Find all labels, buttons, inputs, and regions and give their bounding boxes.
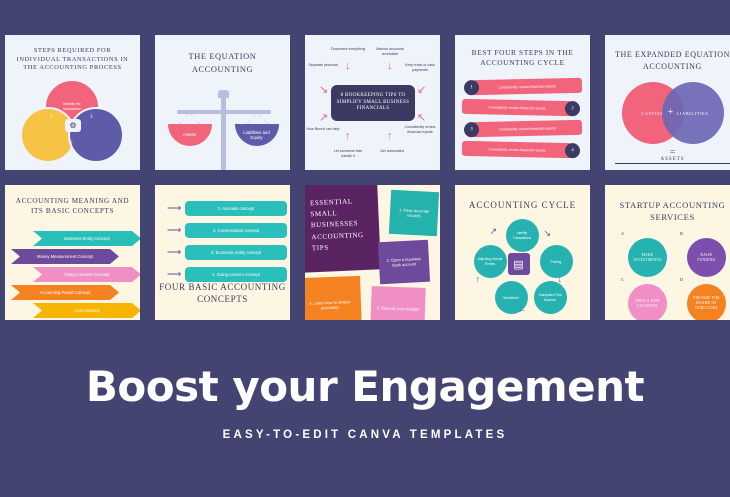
- template-card-5[interactable]: THE EXPANDED EQUATION ACCOUNTING CAPITAL…: [600, 30, 730, 175]
- banner-label-3: Going Concern Concept: [65, 272, 110, 277]
- concept-pill-list: ⟶ 1. Accruals concept ⟶ 2. Conservatism …: [167, 201, 287, 289]
- scale-pan-right-label: Liabilities and Equity: [238, 130, 276, 141]
- gears-icon: ⚙: [65, 119, 81, 132]
- step-bar-2: Consistently review financial reports 2: [462, 99, 572, 116]
- arrow-right-icon-3: ⟶: [167, 248, 185, 258]
- expanded-equation-graphic: CAPITAL LIABILITIES +: [608, 82, 730, 152]
- banner-label-5: Cost Concept: [74, 308, 99, 313]
- step-bar-3: 3 Consistently review financial reports: [472, 120, 582, 137]
- card-7-title: FOUR BASIC ACCOUNTING CONCEPTS: [155, 281, 290, 306]
- cycle-node-label-5: Adjusting Journal Entries: [477, 257, 504, 265]
- banner-cost-concept: Cost Concept: [33, 303, 140, 318]
- scale-post: [221, 94, 226, 170]
- equation-capital-label: CAPITAL: [641, 111, 663, 116]
- banner-money-measurement: Money Measurement Concept: [11, 249, 119, 264]
- sticky-note-1-text: 1. Keep accurate records: [394, 207, 435, 220]
- card-9-body: ACCOUNTING CYCLE Identify Transactions P…: [455, 185, 590, 320]
- cycle-node-unadjusted-trial-balance: Unadjusted Trial Balance: [534, 281, 567, 314]
- card-2-title: THE EQUATION ACCOUNTING: [155, 51, 290, 76]
- service-label-d: PREPARE FOR BOARD OF DIRECTORS: [691, 296, 722, 311]
- service-cell-b: B RAISE FUNDING: [678, 231, 730, 277]
- arrow-right-icon-1: ⟶: [167, 204, 185, 214]
- service-letter-c: C: [621, 277, 624, 282]
- tip-arrow-left-lower: ↖: [417, 113, 426, 124]
- template-card-1[interactable]: STEPS REQUIRED FOR INDIVIDUAL TRANSACTIO…: [0, 30, 145, 175]
- tip-label-keep-track-cash: Keep track of cash payments: [403, 63, 437, 73]
- arrow-right-icon-2: ⟶: [167, 226, 185, 236]
- service-circle-a: MAKE INVESTMENTS: [628, 238, 667, 277]
- service-cell-d: D PREPARE FOR BOARD OF DIRECTORS: [678, 277, 730, 320]
- template-card-7[interactable]: ⟶ 1. Accruals concept ⟶ 2. Conservatism …: [150, 180, 295, 325]
- sticky-note-4: 4. Learn how to invoice accurately: [305, 276, 362, 320]
- sticky-note-2-text: 2. Open a business bank account: [383, 256, 426, 269]
- card-4-body: BEST FOUR STEPS IN THE ACCOUNTING CYCLE …: [455, 35, 590, 170]
- tip-arrow-right-upper: ↘: [319, 85, 328, 96]
- equation-rule: [615, 163, 730, 164]
- cycle-arrow-5: ↑: [476, 275, 481, 284]
- venn-circle-right: [68, 107, 124, 163]
- cycle-node-label-3: Unadjusted Trial Balance: [537, 293, 564, 301]
- tip-label-how-bench-can-help: How Bench can help: [306, 127, 340, 132]
- tip-arrow-right-lower: ↗: [319, 113, 328, 124]
- pill-row-4: ⟶ 4. Going concern concept: [167, 267, 287, 282]
- step-number-1: 1: [464, 80, 479, 95]
- tip-label-separate-personal: Separate personal: [306, 63, 340, 68]
- tip-label-get-automated: Get automated: [375, 149, 409, 154]
- cycle-node-posting: Posting: [540, 245, 573, 278]
- scale-pan-right: Liabilities and Equity: [235, 124, 279, 146]
- card-2-body: THE EQUATION ACCOUNTING Assets Liabiliti…: [155, 35, 290, 170]
- pill-label-2: 2. Conservatism concept: [213, 228, 259, 233]
- venn-number-1: 1: [50, 115, 53, 120]
- venn-number-2: 2: [70, 141, 73, 146]
- scale-knob: [218, 90, 229, 98]
- banner-going-concern: Going Concern Concept: [33, 267, 140, 282]
- sticky-note-3-text: 3. Save all your receipts: [377, 306, 420, 313]
- service-cell-a: A MAKE INVESTMENTS: [619, 231, 678, 277]
- card-6-title: ACCOUNTING MEANING AND ITS BASIC CONCEPT…: [5, 197, 140, 216]
- pill-accruals: 1. Accruals concept: [185, 201, 287, 216]
- cycle-arrow-3: ↓: [558, 275, 563, 284]
- service-circle-b: RAISE FUNDING: [687, 238, 726, 277]
- step-number-3: 3: [464, 122, 479, 137]
- tip-arrow-left-upper: ↙: [417, 85, 426, 96]
- tip-label-monitor-accounts-receivable: Monitor accounts receivable: [373, 47, 407, 57]
- pill-going-concern: 4. Going concern concept: [185, 267, 287, 282]
- sticky-note-title: ESSENTIAL SMALL BUSINESSES ACCOUNTING TI…: [305, 185, 381, 273]
- card-5-body: THE EXPANDED EQUATION ACCOUNTING CAPITAL…: [605, 35, 730, 170]
- step-bar-1: 1 Consistently review financial reports: [472, 78, 582, 95]
- card-1-title: STEPS REQUIRED FOR INDIVIDUAL TRANSACTIO…: [5, 47, 140, 73]
- arrow-right-icon-4: ⟶: [167, 270, 185, 280]
- card-3-body: 8 BOOKKEEPING TIPS TO SIMPLIFY SMALL BUS…: [305, 35, 440, 170]
- financial-report-icon: ▤: [508, 253, 530, 275]
- template-row-top: STEPS REQUIRED FOR INDIVIDUAL TRANSACTIO…: [0, 30, 730, 175]
- card-1-body: STEPS REQUIRED FOR INDIVIDUAL TRANSACTIO…: [5, 35, 140, 170]
- tip-label-review-financial-reports: Consistently review financial reports: [403, 125, 437, 135]
- pill-row-3: ⟶ 3. Economic entity concept: [167, 245, 287, 260]
- step-bar-4: Consistently review financial reports 4: [462, 141, 572, 158]
- service-letter-d: D: [680, 277, 683, 282]
- equation-liabilities-label: LIABILITIES: [677, 111, 709, 116]
- sticky-note-3: 3. Save all your receipts: [370, 286, 426, 320]
- step-text-3: Consistently review financial reports: [498, 126, 555, 131]
- tip-arrow-down-left: ↓: [345, 61, 351, 72]
- service-letter-b: B: [680, 231, 683, 236]
- service-label-c: OPEN A NEW LOCATION: [632, 299, 663, 309]
- card-5-title: THE EXPANDED EQUATION ACCOUNTING: [605, 49, 730, 72]
- template-card-6[interactable]: ACCOUNTING MEANING AND ITS BASIC CONCEPT…: [0, 180, 145, 325]
- card-10-body: STARTUP ACCOUNTING SERVICES A MAKE INVES…: [605, 185, 730, 320]
- template-row-bottom: ACCOUNTING MEANING AND ITS BASIC CONCEPT…: [0, 180, 730, 325]
- services-grid: A MAKE INVESTMENTS B RAISE FUNDING C: [619, 231, 730, 320]
- sticky-note-2: 2. Open a business bank account: [378, 240, 430, 285]
- venn-diagram: Identify the transaction 1 3 2 ⚙: [20, 79, 125, 163]
- service-letter-a: A: [621, 231, 624, 236]
- promo-footer: Boost your Engagement EASY-TO-EDIT CANVA…: [0, 365, 730, 441]
- pill-conservatism: 2. Conservatism concept: [185, 223, 287, 238]
- promo-headline: Boost your Engagement: [0, 365, 730, 409]
- equation-assets-label: ASSETS: [654, 157, 690, 162]
- cycle-node-label-2: Posting: [551, 260, 562, 264]
- pill-label-3: 3. Economic entity concept: [211, 250, 261, 255]
- service-cell-c: C OPEN A NEW LOCATION: [619, 277, 678, 320]
- pill-label-1: 1. Accruals concept: [218, 206, 254, 211]
- scale-pan-left-label: Assets: [183, 132, 196, 138]
- accounting-cycle-graphic: Identify Transactions Posting Unadjusted…: [468, 219, 578, 315]
- pill-label-4: 4. Going concern concept: [212, 272, 260, 277]
- card-6-body: ACCOUNTING MEANING AND ITS BASIC CONCEPT…: [5, 185, 140, 320]
- banner-accounting-period: Accounting Period Concept: [11, 285, 119, 300]
- sticky-note-1: 1. Keep accurate records: [389, 190, 439, 236]
- card-8-title: ESSENTIAL SMALL BUSINESSES ACCOUNTING TI…: [310, 196, 370, 254]
- service-circle-c: OPEN A NEW LOCATION: [628, 284, 667, 320]
- promo-subline: EASY-TO-EDIT CANVA TEMPLATES: [0, 429, 730, 441]
- cycle-arrow-1: ↗: [490, 227, 498, 236]
- card-4-title: BEST FOUR STEPS IN THE ACCOUNTING CYCLE: [455, 48, 590, 68]
- step-number-2: 2: [565, 101, 580, 116]
- tip-label-let-someone-else-handle-it: Let someone else handle it: [331, 149, 365, 159]
- cycle-node-identify-transactions: Identify Transactions: [506, 219, 539, 252]
- pill-row-1: ⟶ 1. Accruals concept: [167, 201, 287, 216]
- service-label-a: MAKE INVESTMENTS: [632, 253, 663, 263]
- cycle-node-label-1: Identify Transactions: [509, 231, 536, 239]
- banner-label-4: Accounting Period Concept: [40, 290, 91, 295]
- template-card-8[interactable]: ESSENTIAL SMALL BUSINESSES ACCOUNTING TI…: [300, 180, 445, 325]
- template-card-4[interactable]: BEST FOUR STEPS IN THE ACCOUNTING CYCLE …: [450, 30, 595, 175]
- banner-label-1: Business Entity Concept: [64, 236, 109, 241]
- template-card-9[interactable]: ACCOUNTING CYCLE Identify Transactions P…: [450, 180, 595, 325]
- service-circle-d: PREPARE FOR BOARD OF DIRECTORS: [687, 284, 726, 320]
- steps-list: 1 Consistently review financial reports …: [462, 79, 583, 163]
- pill-row-2: ⟶ 2. Conservatism concept: [167, 223, 287, 238]
- tip-arrow-down-right: ↓: [387, 61, 393, 72]
- step-text-1: Consistently review financial reports: [498, 84, 555, 89]
- step-text-2: Consistently review financial reports: [488, 105, 545, 110]
- cycle-arrow-4: ←: [518, 305, 527, 314]
- balance-scale-graphic: Assets Liabilities and Equity: [163, 88, 283, 170]
- tip-label-document-everything: Document everything: [331, 47, 365, 52]
- banner-label-2: Money Measurement Concept: [37, 254, 93, 259]
- pill-economic-entity: 3. Economic entity concept: [185, 245, 287, 260]
- tip-arrow-up-left: ↑: [345, 131, 351, 142]
- scale-pan-left: Assets: [168, 124, 212, 146]
- cycle-node-label-4: Worksheet: [503, 296, 518, 300]
- template-card-10[interactable]: STARTUP ACCOUNTING SERVICES A MAKE INVES…: [600, 180, 730, 325]
- venn-number-3: 3: [90, 115, 93, 120]
- step-text-4: Consistently review financial reports: [488, 147, 545, 152]
- equation-plus-operator: +: [668, 107, 674, 118]
- concept-banner-list: Business Entity Concept Money Measuremen…: [9, 231, 140, 320]
- cycle-arrow-2: ↘: [544, 229, 552, 238]
- bookkeeping-tips-center: 8 BOOKKEEPING TIPS TO SIMPLIFY SMALL BUS…: [331, 85, 415, 121]
- step-number-4: 4: [565, 143, 580, 158]
- canva-template-preview: STEPS REQUIRED FOR INDIVIDUAL TRANSACTIO…: [0, 0, 730, 497]
- template-card-3[interactable]: 8 BOOKKEEPING TIPS TO SIMPLIFY SMALL BUS…: [300, 30, 445, 175]
- equation-equals-operator: =: [670, 147, 675, 157]
- sticky-note-4-text: 4. Learn how to invoice accurately: [305, 299, 357, 312]
- card-3-center-text: 8 BOOKKEEPING TIPS TO SIMPLIFY SMALL BUS…: [336, 93, 410, 113]
- tip-arrow-up-right: ↑: [387, 131, 393, 142]
- card-10-title: STARTUP ACCOUNTING SERVICES: [605, 199, 730, 224]
- card-8-body: ESSENTIAL SMALL BUSINESSES ACCOUNTING TI…: [305, 185, 440, 320]
- template-card-2[interactable]: THE EQUATION ACCOUNTING Assets Liabiliti…: [150, 30, 295, 175]
- service-label-b: RAISE FUNDING: [691, 253, 722, 263]
- card-7-body: ⟶ 1. Accruals concept ⟶ 2. Conservatism …: [155, 185, 290, 320]
- card-9-title: ACCOUNTING CYCLE: [455, 199, 590, 211]
- banner-business-entity: Business Entity Concept: [33, 231, 140, 246]
